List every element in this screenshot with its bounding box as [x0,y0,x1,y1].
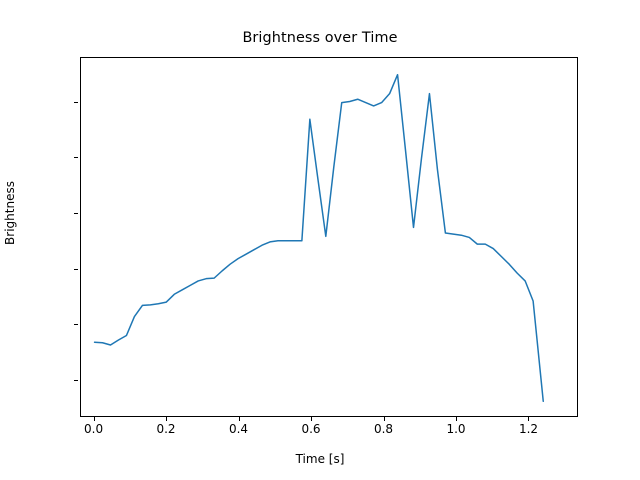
chart-title: Brightness over Time [0,30,640,46]
y-tick-mark [74,157,78,158]
x-tick-label: 0.2 [156,422,175,436]
matplotlib-figure: Brightness over Time Brightness 10015020… [0,0,640,480]
x-tick-label: 1.2 [519,422,538,436]
x-tick-label: 0.0 [84,422,103,436]
x-tick-label: 0.4 [229,422,248,436]
x-axis-tick-labels: 0.00.20.40.60.81.01.2 [0,422,640,442]
x-tick-mark [94,417,95,421]
plot-area [80,57,578,417]
x-tick-mark [528,417,529,421]
y-tick-mark [74,213,78,214]
y-tick-mark [74,269,78,270]
y-axis-tick-labels: 100150200250300350 [0,0,74,480]
data-line-chart [81,58,579,418]
x-tick-mark [456,417,457,421]
y-tick-mark [74,324,78,325]
x-tick-label: 0.8 [374,422,393,436]
x-tick-label: 1.0 [446,422,465,436]
x-tick-label: 0.6 [301,422,320,436]
brightness-line [95,75,544,402]
y-tick-mark [74,102,78,103]
y-tick-mark [74,380,78,381]
x-tick-mark [239,417,240,421]
x-axis-label: Time [s] [0,452,640,466]
x-tick-mark [166,417,167,421]
x-tick-mark [384,417,385,421]
x-tick-mark [311,417,312,421]
